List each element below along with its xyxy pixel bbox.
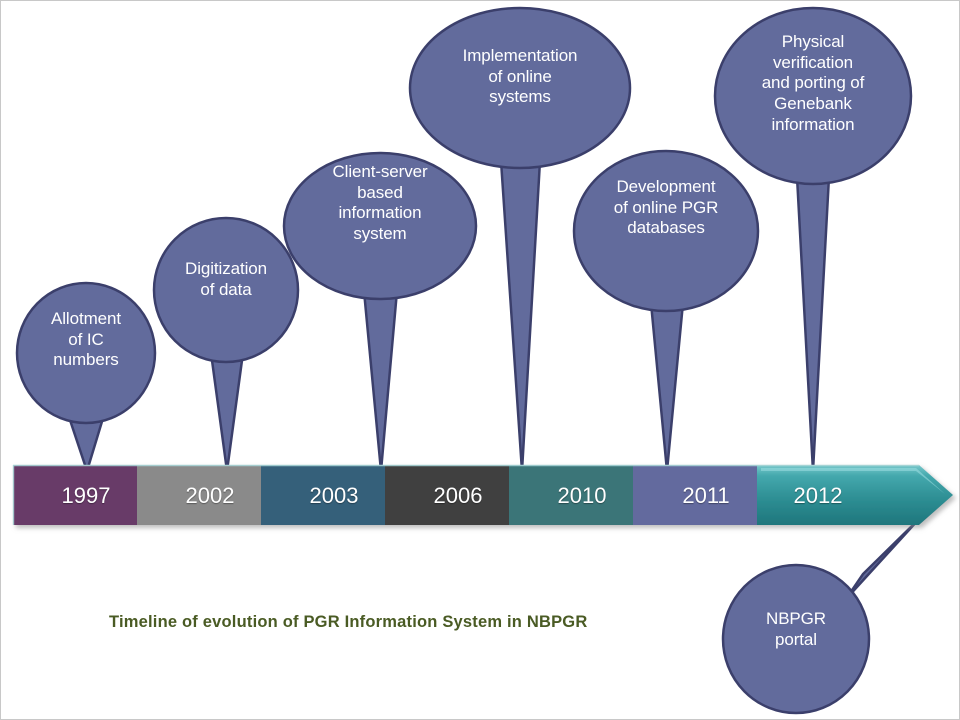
timeline-diagram: Allotmentof ICnumbers Digitizationof dat… [0,0,960,720]
balloon-2002[interactable] [154,218,298,362]
balloon-2006[interactable] [410,8,630,168]
tail-2003 [364,291,397,471]
year-label-2003: 2003 [294,483,374,509]
tail-2012 [846,519,919,599]
tail-2011 [797,177,829,471]
tail-2002 [211,353,243,471]
balloon-2011[interactable] [715,8,911,184]
year-label-2002: 2002 [170,483,250,509]
year-label-2006: 2006 [418,483,498,509]
year-label-2011: 2011 [666,483,746,509]
balloon-2010[interactable] [574,151,758,311]
tail-2006 [501,161,540,471]
balloon-2003[interactable] [284,153,476,299]
tail-2010 [651,303,683,471]
year-label-2012: 2012 [778,483,858,509]
diagram-caption: Timeline of evolution of PGR Information… [109,613,587,632]
year-label-1997: 1997 [46,483,126,509]
balloon-2012[interactable] [723,565,869,713]
year-label-2010: 2010 [542,483,622,509]
balloon-1997[interactable] [17,283,155,423]
balloon-shapes [17,8,911,713]
